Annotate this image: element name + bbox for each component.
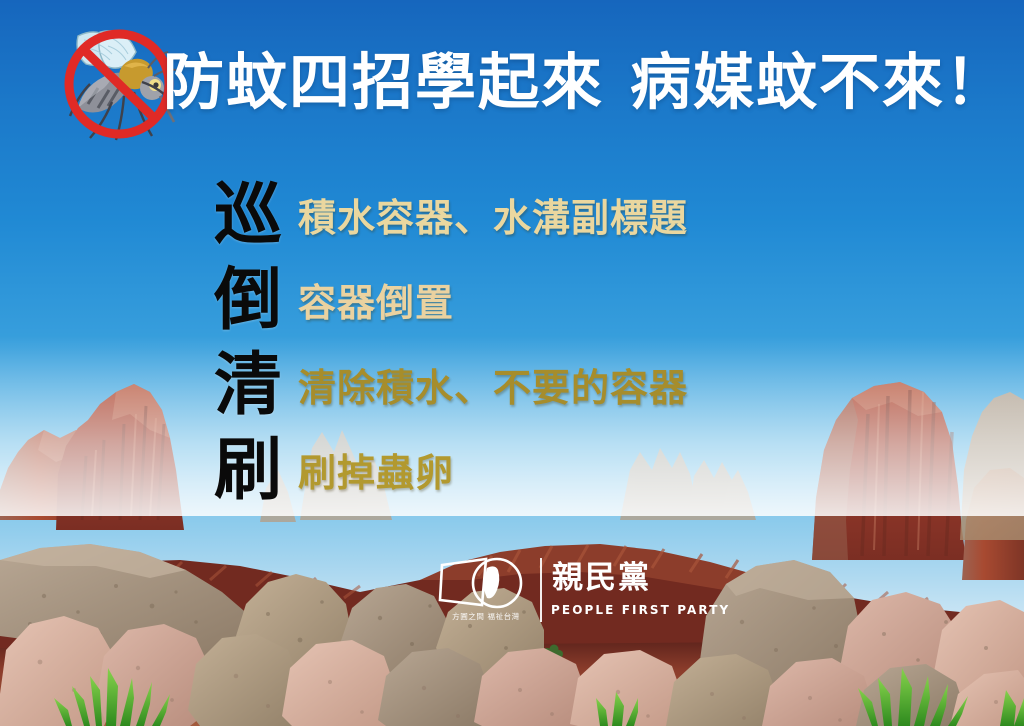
step-sub-xun: 積水容器、水溝副標題 [298,183,688,253]
logo-divider [540,558,542,622]
butte-cluster-right [960,392,1024,540]
square-circle-taiwan-mark-icon [437,556,529,610]
poster-title: 防蚊四招學起來病媒蚊不來！ [163,52,1008,113]
step-row-dao: 倒 容器倒置 [214,253,688,338]
step-row-qing: 清 清除積水、不要的容器 [214,338,688,423]
poster-canvas: 防蚊四招學起來病媒蚊不來！ 巡 積水容器、水溝副標題 倒 容器倒置 清 清除積水… [0,0,1024,726]
step-char-qing: 清 [214,347,298,423]
step-char-xun: 巡 [214,177,298,253]
party-name-en: PEOPLE FIRST PARTY [551,603,730,617]
party-name-cn: 親民黨 [552,560,651,596]
step-row-xun: 巡 積水容器、水溝副標題 [214,168,688,253]
step-sub-dao: 容器倒置 [298,268,454,338]
title-part-2: 病媒蚊不來！ [630,47,1008,118]
prevention-steps-list: 巡 積水容器、水溝副標題 倒 容器倒置 清 清除積水、不要的容器 刷 刷掉蟲卵 [214,168,688,508]
step-row-shua: 刷 刷掉蟲卵 [214,423,688,508]
title-part-1: 防蚊四招學起來 [163,47,604,118]
party-logo: 方圓之間 福祉台灣 親民黨 PEOPLE FIRST PARTY [437,556,651,632]
mesa-left [0,384,184,530]
party-tagline: 方圓之間 福祉台灣 [440,611,532,622]
step-char-shua: 刷 [214,432,298,508]
step-char-dao: 倒 [214,262,298,338]
step-sub-qing: 清除積水、不要的容器 [298,353,688,423]
step-sub-shua: 刷掉蟲卵 [298,438,454,508]
